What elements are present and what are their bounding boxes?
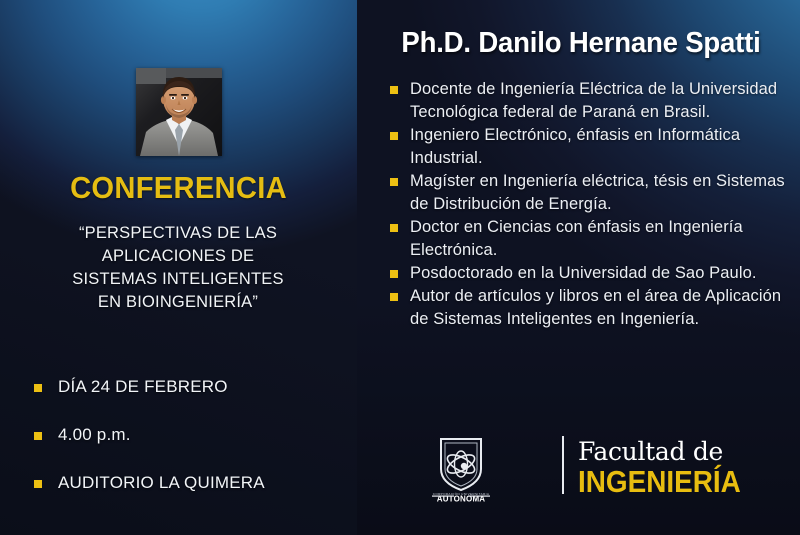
speaker-portrait-illustration [136, 68, 222, 156]
list-item: 4.00 p.m. [34, 425, 344, 445]
bullet-square-icon [390, 178, 398, 186]
conference-subtitle: “PERSPECTIVAS DE LAS APLICACIONES DE SIS… [28, 222, 328, 314]
speaker-photo [136, 68, 222, 156]
event-venue: AUDITORIO LA QUIMERA [58, 473, 265, 493]
bullet-square-icon [390, 270, 398, 278]
bio-item-label: Posdoctorado en la Universidad de Sao Pa… [410, 262, 757, 285]
list-item: Docente de Ingeniería Eléctrica de la Un… [390, 78, 790, 124]
bullet-square-icon [34, 432, 42, 440]
event-date: DÍA 24 DE FEBRERO [58, 377, 228, 397]
bullet-square-icon [390, 293, 398, 301]
list-item: Autor de artículos y libros en el área d… [390, 285, 790, 331]
subtitle-line-3: SISTEMAS INTELIGENTES [28, 268, 328, 291]
subtitle-line-4: EN BIOINGENIERÍA” [28, 291, 328, 314]
bio-item-label: Docente de Ingeniería Eléctrica de la Un… [410, 78, 790, 124]
right-panel: Ph.D. Danilo Hernane Spatti Docente de I… [357, 0, 800, 535]
bullet-square-icon [390, 224, 398, 232]
list-item: DÍA 24 DE FEBRERO [34, 377, 344, 397]
bullet-square-icon [390, 132, 398, 140]
list-item: Posdoctorado en la Universidad de Sao Pa… [390, 262, 790, 285]
conference-heading: CONFERENCIA [11, 170, 347, 206]
list-item: Ingeniero Electrónico, énfasis en Inform… [390, 124, 790, 170]
bio-item-label: Doctor en Ciencias con énfasis en Ingeni… [410, 216, 790, 262]
bio-item-label: Magíster en Ingeniería eléctrica, tésis … [410, 170, 790, 216]
event-details-list: DÍA 24 DE FEBRERO 4.00 p.m. AUDITORIO LA… [34, 377, 344, 521]
event-time: 4.00 p.m. [58, 425, 131, 445]
speaker-name: Ph.D. Danilo Hernane Spatti [385, 27, 776, 60]
conference-announcement-slide: CONFERENCIA “PERSPECTIVAS DE LAS APLICAC… [0, 0, 800, 535]
bio-item-label: Ingeniero Electrónico, énfasis en Inform… [410, 124, 790, 170]
list-item: AUDITORIO LA QUIMERA [34, 473, 344, 493]
bullet-square-icon [34, 480, 42, 488]
bullet-square-icon [34, 384, 42, 392]
list-item: Doctor en Ciencias con énfasis en Ingeni… [390, 216, 790, 262]
subtitle-line-1: “PERSPECTIVAS DE LAS [28, 222, 328, 245]
bullet-square-icon [390, 86, 398, 94]
list-item: Magíster en Ingeniería eléctrica, tésis … [390, 170, 790, 216]
speaker-bio-list: Docente de Ingeniería Eléctrica de la Un… [390, 78, 790, 331]
subtitle-line-2: APLICACIONES DE [28, 245, 328, 268]
left-panel: CONFERENCIA “PERSPECTIVAS DE LAS APLICAC… [0, 0, 357, 535]
bio-item-label: Autor de artículos y libros en el área d… [410, 285, 790, 331]
